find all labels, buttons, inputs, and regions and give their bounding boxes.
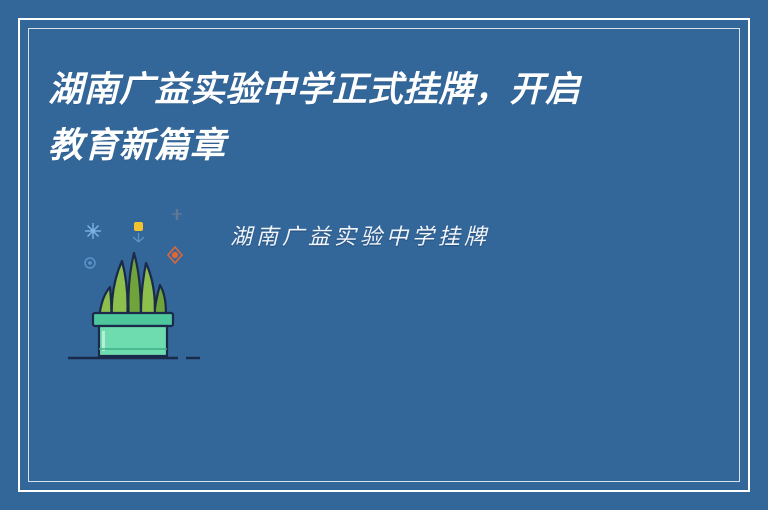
- potted-plant-illustration: [60, 195, 230, 370]
- page-title: 湖南广益实验中学正式挂牌，开启教育新篇章: [48, 62, 608, 174]
- blue-circle-sparkle: [85, 258, 95, 268]
- grey-tick-sparkle: [172, 209, 182, 220]
- article-cover-card: 湖南广益实验中学正式挂牌，开启教育新篇章: [0, 0, 768, 510]
- illustration-caption: 湖南广益实验中学挂牌: [230, 219, 490, 251]
- yellow-dot-sparkle: [133, 222, 144, 242]
- orange-diamond-sparkle: [168, 247, 182, 263]
- snowflake-sparkle: [85, 223, 101, 239]
- plant-pot: [93, 313, 173, 356]
